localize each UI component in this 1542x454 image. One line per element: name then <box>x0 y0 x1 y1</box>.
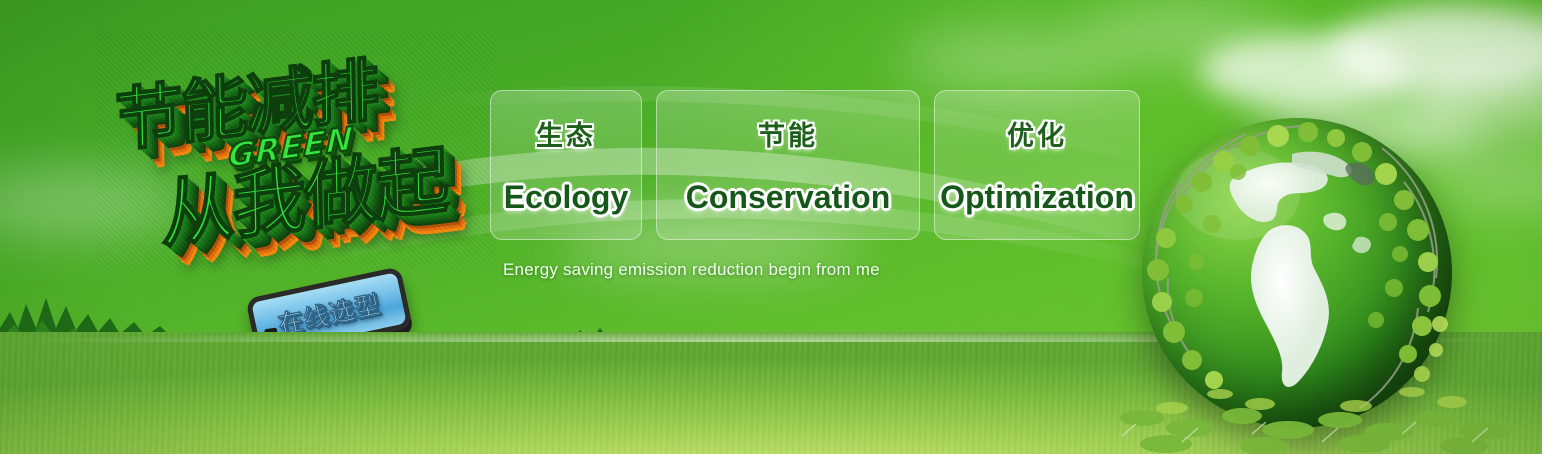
card-optimization[interactable]: 优化 Optimization <box>934 90 1140 240</box>
cloud-icon <box>0 170 190 236</box>
globe-sphere <box>1142 118 1452 428</box>
feature-card-list: 生态 Ecology 节能 Conservation 优化 Optimizati… <box>490 90 1140 240</box>
title-line-2: 从我做起 <box>160 120 448 263</box>
cloud-icon <box>900 30 1120 88</box>
title-line-1: 节能减排 <box>114 34 378 166</box>
cloud-icon <box>1200 34 1410 108</box>
card-conservation-en: Conservation <box>686 179 890 216</box>
tagline: Energy saving emission reduction begin f… <box>503 260 880 280</box>
card-optimization-cn: 优化 <box>1007 114 1067 153</box>
card-conservation[interactable]: 节能 Conservation <box>656 90 920 240</box>
card-conservation-cn: 节能 <box>758 114 818 153</box>
hero-banner: 节能减排 GREEN 从我做起 在线选型 生态 Ecology 节能 Conse… <box>0 0 1542 454</box>
card-optimization-en: Optimization <box>940 179 1134 216</box>
title-weave-texture <box>96 30 496 270</box>
card-ecology-en: Ecology <box>504 179 628 216</box>
title-overlay-green: GREEN <box>228 119 355 175</box>
leafy-earth-globe-icon <box>1142 118 1452 428</box>
card-ecology[interactable]: 生态 Ecology <box>490 90 642 240</box>
card-ecology-cn: 生态 <box>536 114 596 153</box>
cloud-icon <box>1080 4 1280 64</box>
cloud-icon <box>1330 6 1542 92</box>
title-artwork: 节能减排 GREEN 从我做起 <box>96 30 496 270</box>
